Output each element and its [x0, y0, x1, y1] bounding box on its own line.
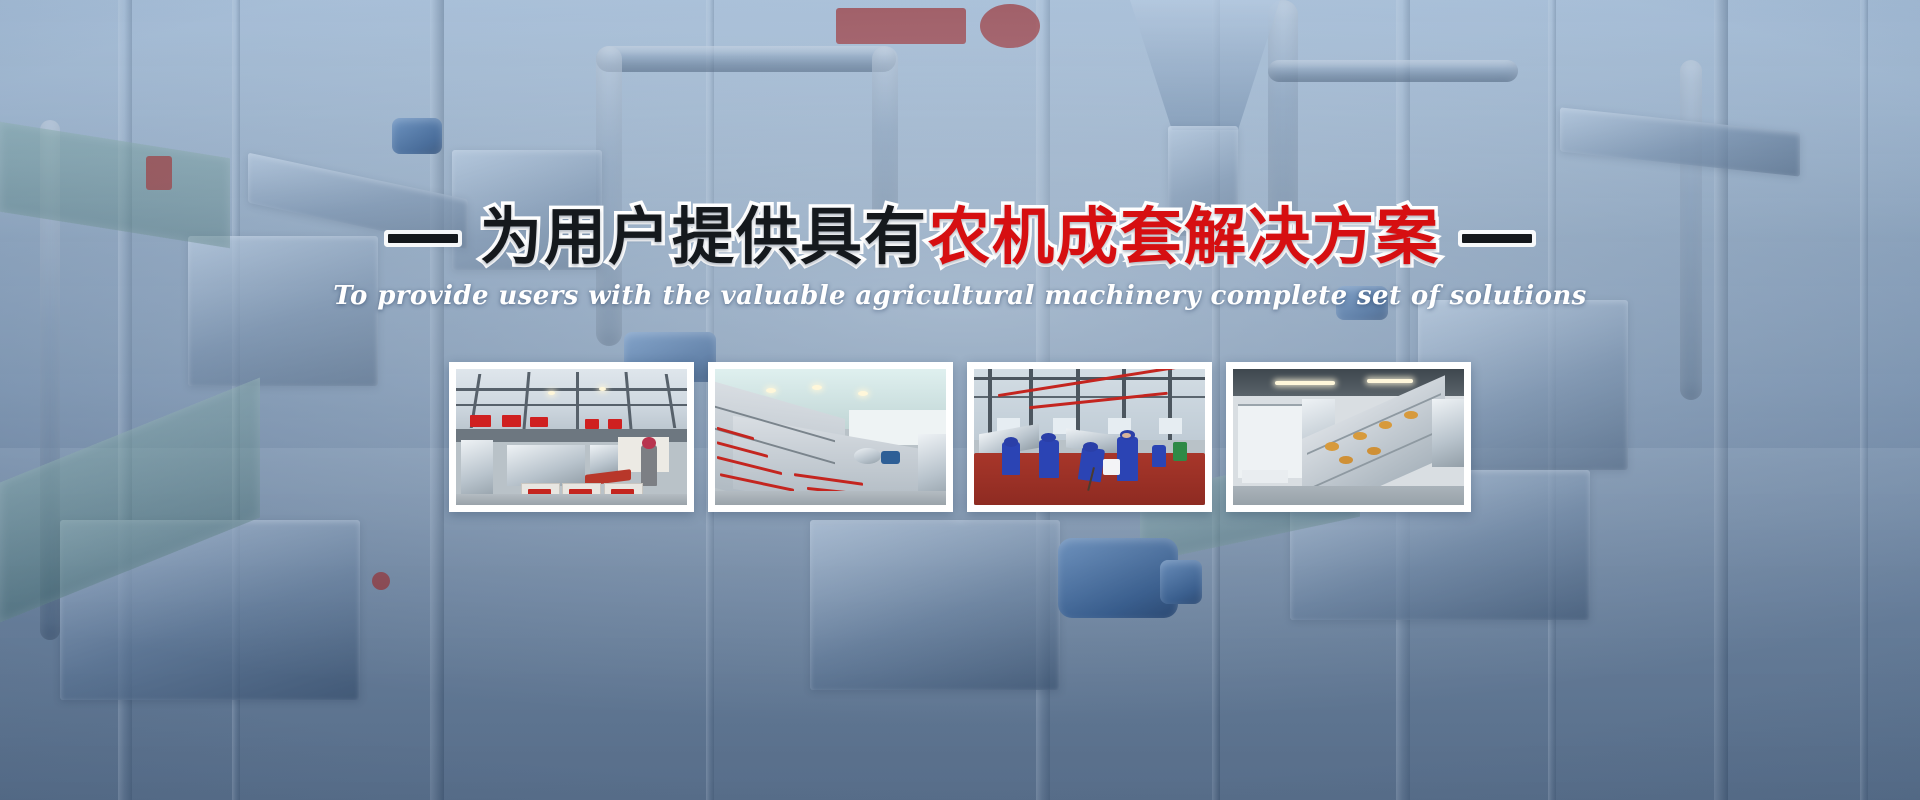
headline-dash-right: [1462, 234, 1532, 243]
banner-headline: 为用户提供具有农机成套解决方案: [0, 206, 1920, 268]
thumbnail-3-image: [974, 369, 1205, 505]
thumbnail-2[interactable]: [708, 362, 953, 512]
headline-accent-text: 农机成套解决方案: [928, 200, 1440, 273]
headline-dash-left: [388, 234, 458, 243]
thumbnail-1-image: [456, 369, 687, 505]
thumbnail-3[interactable]: [967, 362, 1212, 512]
thumbnail-2-image: [715, 369, 946, 505]
thumbnail-4-image: [1233, 369, 1464, 505]
headline-primary-text: 为用户提供具有: [480, 200, 928, 273]
hero-banner: 为用户提供具有农机成套解决方案 To provide users with th…: [0, 0, 1920, 800]
thumbnail-1[interactable]: [449, 362, 694, 512]
thumbnail-strip: [449, 362, 1471, 512]
banner-subtitle: To provide users with the valuable agric…: [0, 281, 1920, 311]
thumbnail-4[interactable]: [1226, 362, 1471, 512]
